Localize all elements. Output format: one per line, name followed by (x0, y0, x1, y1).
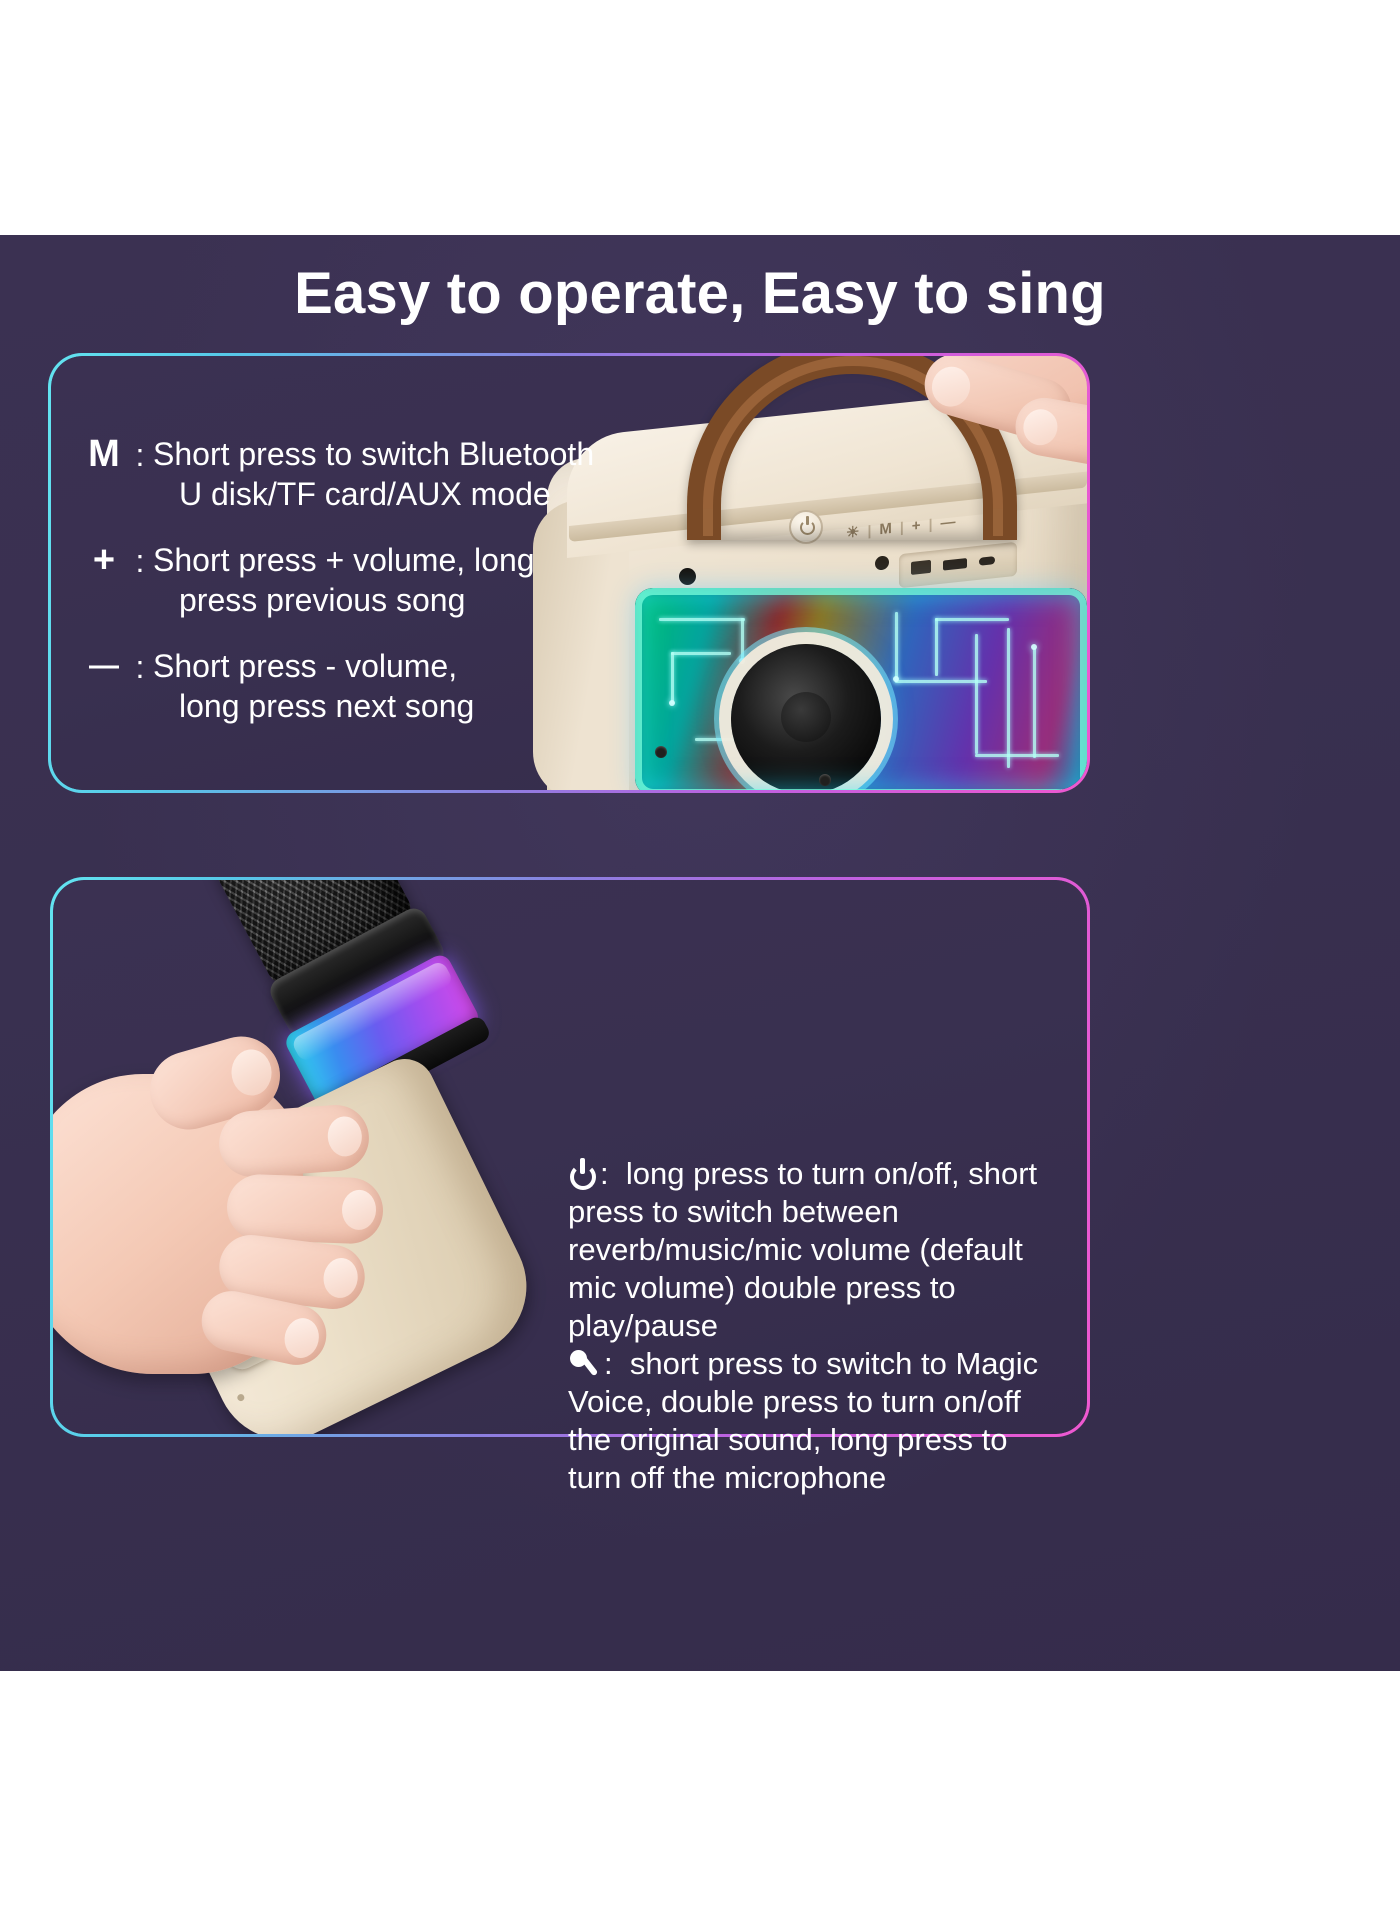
volume-down-symbol: — (81, 646, 127, 686)
thumbnail (231, 1049, 273, 1096)
volume-up-symbol: + (81, 540, 127, 580)
fingernail (281, 1315, 323, 1361)
instruction-text: Short press + volume, long press previou… (153, 540, 535, 620)
hand-holding-microphone (53, 1034, 443, 1434)
charge-port (979, 556, 995, 566)
speaker-instruction-list: M : Short press to switch Bluetooth U di… (81, 434, 621, 752)
fingernail (326, 1115, 363, 1157)
microphone-instruction-paragraph: : short press to switch to Magic Voice, … (568, 1345, 1068, 1497)
fingernail (321, 1256, 360, 1300)
power-instruction-text: long press to turn on/off, short press t… (568, 1156, 1037, 1343)
instruction-text: Short press to switch Bluetooth U disk/T… (153, 434, 594, 514)
colon: : (127, 646, 153, 688)
instruction-row: + : Short press + volume, long press pre… (81, 540, 621, 620)
colon: : (127, 540, 153, 582)
speaker-mic-hole (679, 568, 696, 585)
fingernail (927, 362, 975, 411)
rgb-edge-ring (635, 588, 1087, 790)
instruction-row: — : Short press - volume, long press nex… (81, 646, 621, 726)
microphone-product-image: ⏻ + — (53, 880, 613, 1434)
page-title: Easy to operate, Easy to sing (0, 260, 1400, 327)
rgb-light-panel (635, 588, 1087, 790)
colon: : (604, 1346, 613, 1381)
tf-card-slot (943, 558, 967, 571)
colon: : (600, 1156, 609, 1191)
fingernail (341, 1189, 376, 1230)
mode-button-symbol: M (81, 434, 127, 474)
instruction-row: M : Short press to switch Bluetooth U di… (81, 434, 621, 514)
bottom-white-margin (0, 1671, 1400, 1909)
microphone-instruction-text: short press to switch to Magic Voice, do… (568, 1346, 1038, 1495)
power-icon (568, 1158, 598, 1190)
dark-stage: Easy to operate, Easy to sing (0, 235, 1400, 1671)
speaker-instruction-panel: ☀ | M | + | — (48, 353, 1090, 793)
instruction-line-1: Short press to switch Bluetooth (153, 436, 594, 472)
instruction-line-2: U disk/TF card/AUX mode (153, 474, 594, 514)
instruction-text: Short press - volume, long press next so… (153, 646, 474, 726)
index-finger (217, 1103, 371, 1179)
hand-on-speaker (827, 356, 1087, 554)
colon: : (127, 434, 153, 476)
fingernail (1021, 407, 1061, 448)
top-white-margin (0, 0, 1400, 235)
speaker-panel-inner: ☀ | M | + | — (51, 356, 1087, 790)
infographic-page: Easy to operate, Easy to sing (0, 0, 1400, 1909)
usb-port (911, 560, 931, 575)
instruction-line-2: long press next song (153, 686, 474, 726)
speaker-screw (819, 774, 831, 786)
instruction-line-1: Short press + volume, long (153, 542, 535, 578)
instruction-line-1: Short press - volume, (153, 648, 457, 684)
microphone-icon (568, 1348, 602, 1380)
power-instruction-paragraph: : long press to turn on/off, short press… (568, 1155, 1068, 1345)
speaker-screw (655, 746, 667, 758)
instruction-line-2: press previous song (153, 580, 535, 620)
